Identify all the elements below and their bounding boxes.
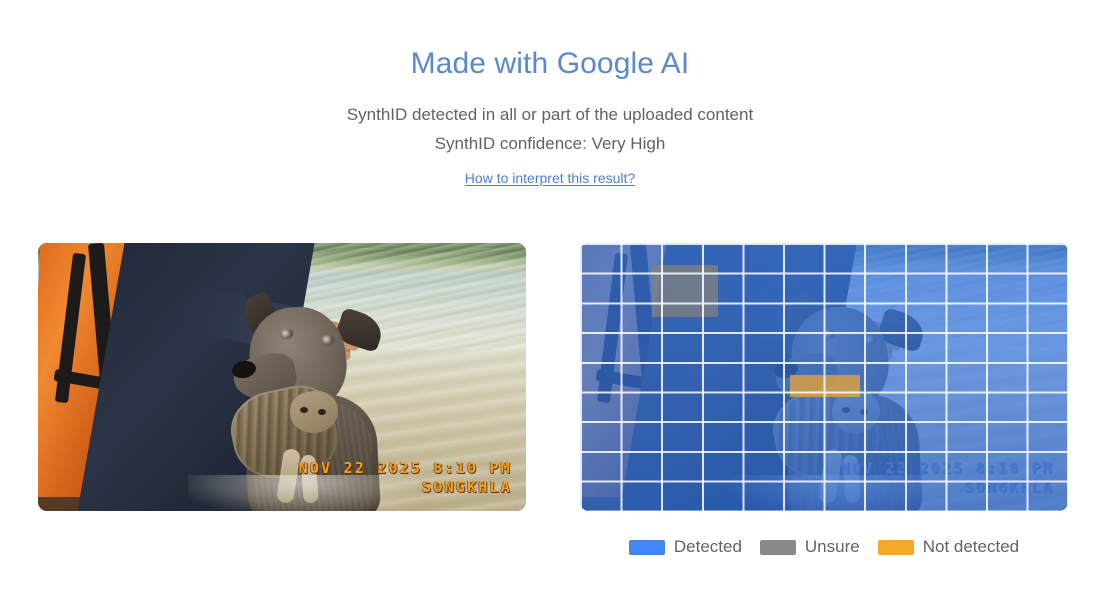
legend-item-unsure: Unsure bbox=[760, 537, 860, 557]
result-header: Made with Google AI SynthID detected in … bbox=[0, 0, 1100, 188]
help-link-container: How to interpret this result? bbox=[0, 169, 1100, 188]
detected-swatch-icon bbox=[629, 540, 665, 555]
confidence-statement: SynthID confidence: Very High bbox=[0, 129, 1100, 158]
image-comparison-row: NOV 22 2025 8:10 PM SONGKHLA bbox=[0, 243, 1100, 511]
legend-label-not-detected: Not detected bbox=[923, 537, 1019, 557]
synthid-result-page: Made with Google AI SynthID detected in … bbox=[0, 0, 1100, 612]
legend-item-not-detected: Not detected bbox=[878, 537, 1019, 557]
timestamp-location: SONGKHLA bbox=[299, 478, 512, 497]
not-detected-swatch-icon bbox=[878, 540, 914, 555]
detection-grid-overlay bbox=[580, 243, 1068, 511]
page-title: Made with Google AI bbox=[0, 44, 1100, 84]
legend-label-detected: Detected bbox=[674, 537, 742, 557]
legend-item-detected: Detected bbox=[629, 537, 742, 557]
how-to-interpret-link[interactable]: How to interpret this result? bbox=[465, 170, 635, 186]
timestamp-datetime: NOV 22 2025 8:10 PM bbox=[299, 459, 512, 478]
legend-label-unsure: Unsure bbox=[805, 537, 860, 557]
detection-legend: Detected Unsure Not detected bbox=[580, 527, 1068, 567]
analysed-image-card[interactable]: NOV 22 2025 8:10 PM SONGKHLA bbox=[580, 243, 1068, 511]
unsure-swatch-icon bbox=[760, 540, 796, 555]
photo-timestamp: NOV 22 2025 8:10 PM SONGKHLA bbox=[299, 459, 512, 497]
original-image-card[interactable]: NOV 22 2025 8:10 PM SONGKHLA bbox=[38, 243, 526, 511]
result-summary: SynthID detected in all or part of the u… bbox=[0, 100, 1100, 158]
cat-eye-left bbox=[300, 407, 308, 413]
detection-statement: SynthID detected in all or part of the u… bbox=[0, 100, 1100, 129]
cat-eye-right bbox=[318, 409, 326, 415]
